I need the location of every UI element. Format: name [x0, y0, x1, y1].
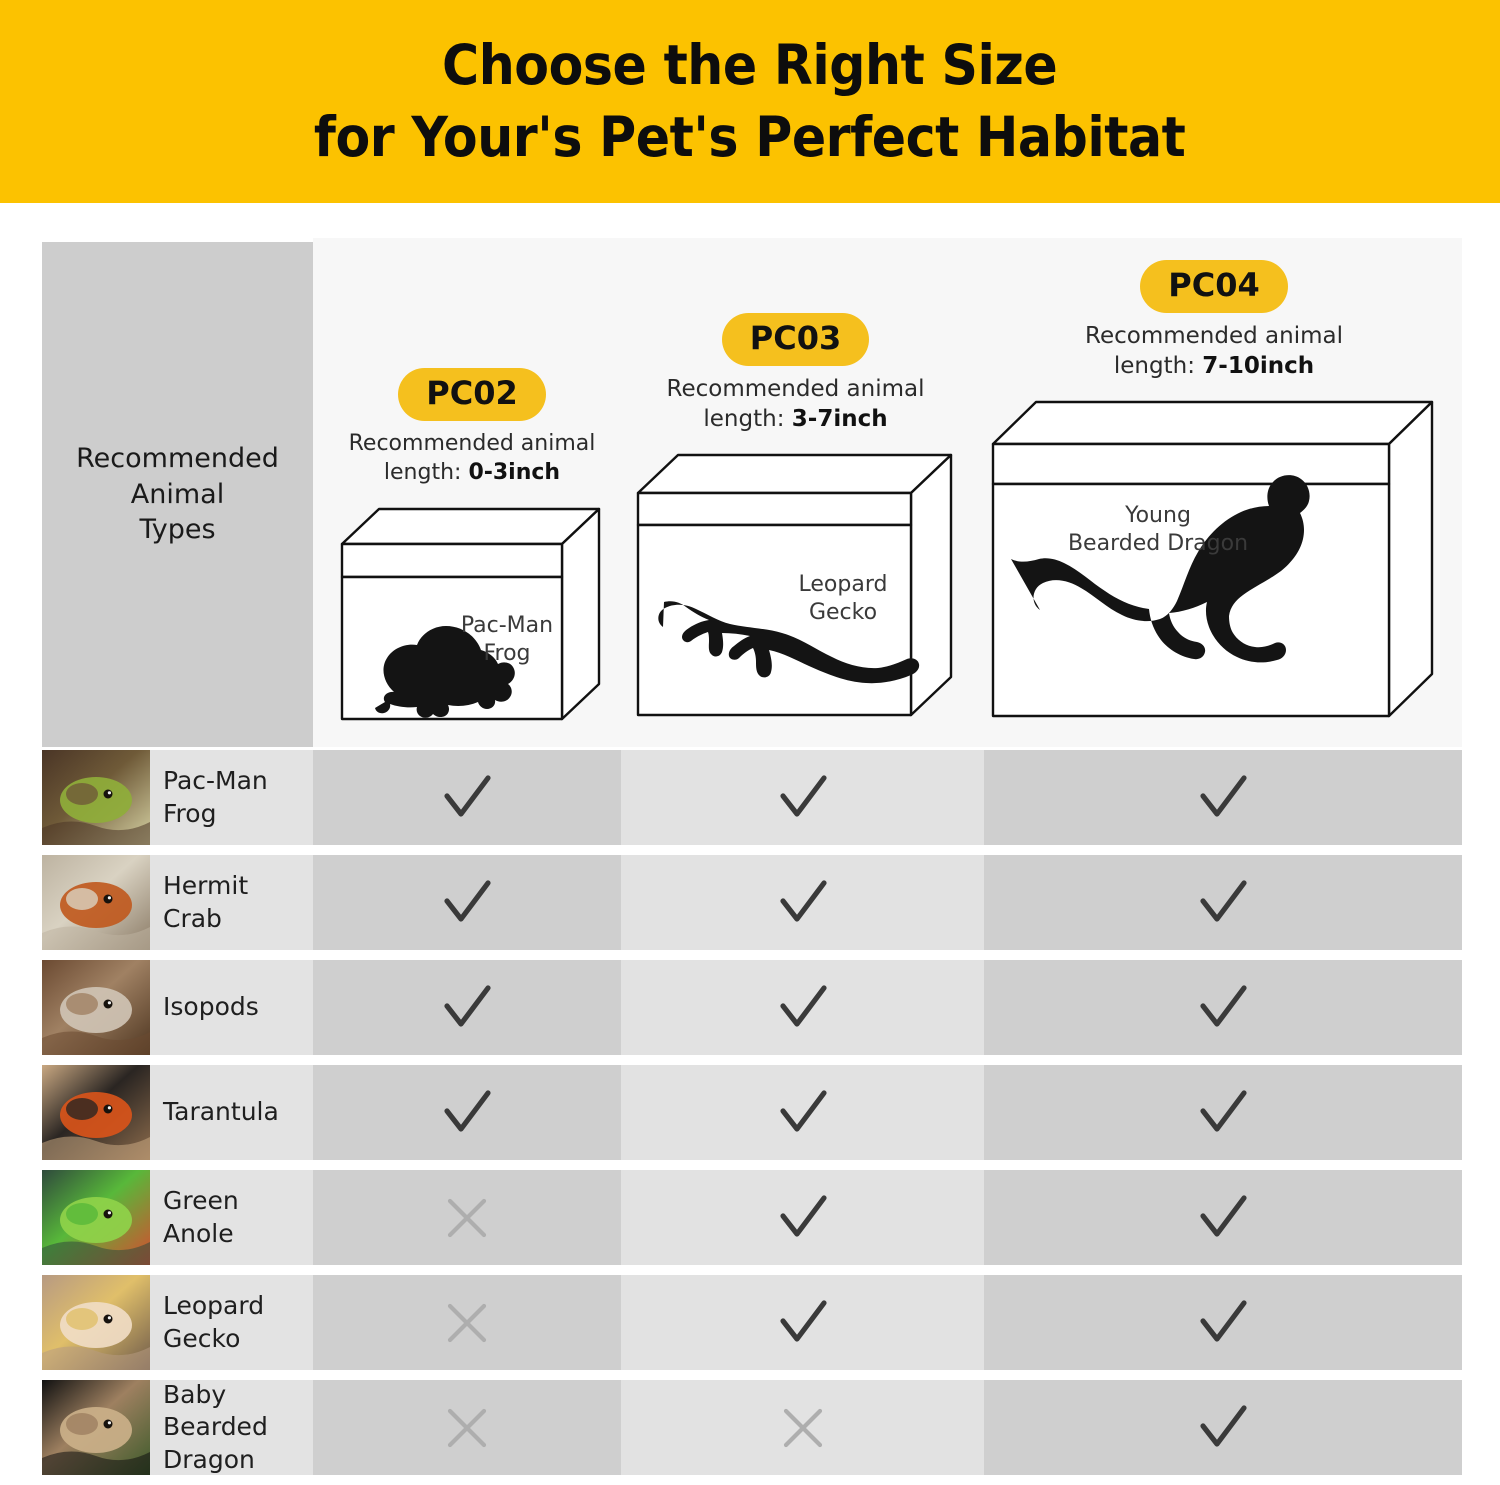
pc04-badge: PC04: [1140, 260, 1287, 313]
check-icon: [439, 1085, 495, 1141]
animal-name-cell: Isopods: [150, 960, 313, 1055]
cross-icon: [439, 1190, 495, 1246]
cell-pc02: [313, 855, 621, 950]
header-label-line-3: Types: [76, 512, 279, 548]
pc03-badge-wrap: PC03: [623, 313, 968, 366]
title-line-2: for Your's Pet's Perfect Habitat: [314, 102, 1185, 174]
check-icon: [439, 770, 495, 826]
animal-name: Pac-ManFrog: [150, 765, 268, 830]
pc04-badge-wrap: PC04: [973, 260, 1455, 313]
animal-name: Isopods: [150, 991, 259, 1024]
check-icon: [775, 980, 831, 1036]
cell-pc03: [621, 1275, 984, 1370]
cell-pc04: [984, 1275, 1462, 1370]
pc03-terrarium-illustration: Leopard Gecko: [633, 445, 958, 727]
check-icon: [439, 875, 495, 931]
check-icon: [1195, 980, 1251, 1036]
table-row: Isopods: [42, 960, 1462, 1055]
cell-pc02: [313, 1170, 621, 1265]
pc03-rec-line-1: Recommended animal: [667, 376, 925, 402]
check-icon: [775, 1295, 831, 1351]
check-icon: [775, 1190, 831, 1246]
animal-name: LeopardGecko: [150, 1290, 264, 1355]
cell-pc02: [313, 750, 621, 845]
animal-name: GreenAnole: [150, 1185, 239, 1250]
cell-pc04: [984, 960, 1462, 1055]
animal-name-line-1: Leopard: [163, 1290, 264, 1323]
pc02-recommendation: Recommended animal length: 0-3inch: [323, 430, 621, 487]
animal-name-line-1: Baby Bearded: [163, 1379, 313, 1444]
animal-thumbnail: [42, 1065, 150, 1160]
pc02-terrarium-illustration: Pac-Man Frog: [337, 499, 607, 735]
header-label-line-2: Animal: [76, 477, 279, 513]
cell-pc04: [984, 1380, 1462, 1475]
animal-name-cell: Tarantula: [150, 1065, 313, 1160]
check-icon: [1195, 770, 1251, 826]
pc03-recommendation: Recommended animal length: 3-7inch: [623, 375, 968, 435]
header-label-line-1: Recommended: [76, 441, 279, 477]
table-row: LeopardGecko: [42, 1275, 1462, 1370]
check-icon: [1195, 1400, 1251, 1456]
animal-name-line-2: Dragon: [163, 1444, 313, 1477]
check-icon: [1195, 1085, 1251, 1141]
animal-name-line-2: Frog: [163, 798, 268, 831]
cell-pc03: [621, 750, 984, 845]
animal-thumbnail: [42, 1380, 150, 1475]
cross-icon: [439, 1400, 495, 1456]
cross-icon: [439, 1295, 495, 1351]
animal-name-line-1: Hermit: [163, 870, 248, 903]
cell-pc02: [313, 960, 621, 1055]
pc04-rec-label: length:: [1114, 353, 1202, 379]
product-pc02: PC02 Recommended animal length: 0-3inch: [323, 368, 621, 735]
check-icon: [1195, 875, 1251, 931]
animal-name-line-1: Pac-Man: [163, 765, 268, 798]
animal-name-line-2: Gecko: [163, 1323, 264, 1356]
cross-icon: [775, 1400, 831, 1456]
cell-pc02: [313, 1380, 621, 1475]
cell-pc02: [313, 1275, 621, 1370]
cell-pc04: [984, 1170, 1462, 1265]
pc03-badge: PC03: [722, 313, 869, 366]
table-row: Pac-ManFrog: [42, 750, 1462, 845]
pc04-terrarium-illustration: Young Bearded Dragon: [988, 392, 1440, 730]
pc02-rec-line-1: Recommended animal: [349, 431, 596, 456]
products-header-panel: PC02 Recommended animal length: 0-3inch: [313, 238, 1462, 747]
pc02-rec-label: length:: [384, 460, 469, 485]
recommended-animal-types-header: Recommended Animal Types: [42, 242, 313, 747]
cell-pc04: [984, 855, 1462, 950]
pc03-rec-label: length:: [703, 406, 791, 432]
animal-name-cell: LeopardGecko: [150, 1275, 313, 1370]
table-row: HermitCrab: [42, 855, 1462, 950]
animal-name-line-1: Isopods: [163, 991, 259, 1024]
pc02-rec-value: 0-3inch: [468, 460, 560, 485]
animal-name: Tarantula: [150, 1096, 279, 1129]
animal-name-line-2: Crab: [163, 903, 248, 936]
cell-pc02: [313, 1065, 621, 1160]
animal-name-cell: HermitCrab: [150, 855, 313, 950]
animal-thumbnail: [42, 750, 150, 845]
animal-thumbnail: [42, 1170, 150, 1265]
animal-name-cell: GreenAnole: [150, 1170, 313, 1265]
header-banner: Choose the Right Size for Your's Pet's P…: [0, 0, 1500, 203]
animal-name-line-2: Anole: [163, 1218, 239, 1251]
check-icon: [775, 875, 831, 931]
animal-name-cell: Baby BeardedDragon: [150, 1380, 313, 1475]
animal-name-line-1: Tarantula: [163, 1096, 279, 1129]
check-icon: [775, 770, 831, 826]
animal-name: HermitCrab: [150, 870, 248, 935]
title-line-1: Choose the Right Size: [314, 30, 1185, 102]
product-pc03: PC03 Recommended animal length: 3-7inch: [623, 313, 968, 727]
product-pc04: PC04 Recommended animal length: 7-10inch: [973, 260, 1455, 730]
table-row: Tarantula: [42, 1065, 1462, 1160]
check-icon: [775, 1085, 831, 1141]
animal-name-line-1: Green: [163, 1185, 239, 1218]
table-row: GreenAnole: [42, 1170, 1462, 1265]
check-icon: [1195, 1190, 1251, 1246]
animal-name: Baby BeardedDragon: [150, 1379, 313, 1477]
pc04-rec-value: 7-10inch: [1202, 353, 1314, 379]
cell-pc03: [621, 1380, 984, 1475]
pc02-badge: PC02: [398, 368, 545, 421]
page-title: Choose the Right Size for Your's Pet's P…: [314, 30, 1185, 173]
cell-pc03: [621, 1170, 984, 1265]
animal-name-cell: Pac-ManFrog: [150, 750, 313, 845]
pc04-rec-line-1: Recommended animal: [1085, 323, 1343, 349]
pc04-recommendation: Recommended animal length: 7-10inch: [973, 322, 1455, 382]
animal-thumbnail: [42, 855, 150, 950]
check-icon: [1195, 1295, 1251, 1351]
animal-thumbnail: [42, 960, 150, 1055]
comparison-table: Pac-ManFrogHermitCrabIsopodsTarantulaGre…: [42, 750, 1462, 1485]
cell-pc03: [621, 960, 984, 1055]
check-icon: [439, 980, 495, 1036]
pc02-badge-wrap: PC02: [323, 368, 621, 421]
cell-pc03: [621, 1065, 984, 1160]
header-label: Recommended Animal Types: [76, 441, 279, 548]
table-row: Baby BeardedDragon: [42, 1380, 1462, 1475]
cell-pc04: [984, 1065, 1462, 1160]
infographic-page: Choose the Right Size for Your's Pet's P…: [0, 0, 1500, 1469]
pc03-rec-value: 3-7inch: [792, 406, 888, 432]
cell-pc04: [984, 750, 1462, 845]
animal-thumbnail: [42, 1275, 150, 1370]
cell-pc03: [621, 855, 984, 950]
